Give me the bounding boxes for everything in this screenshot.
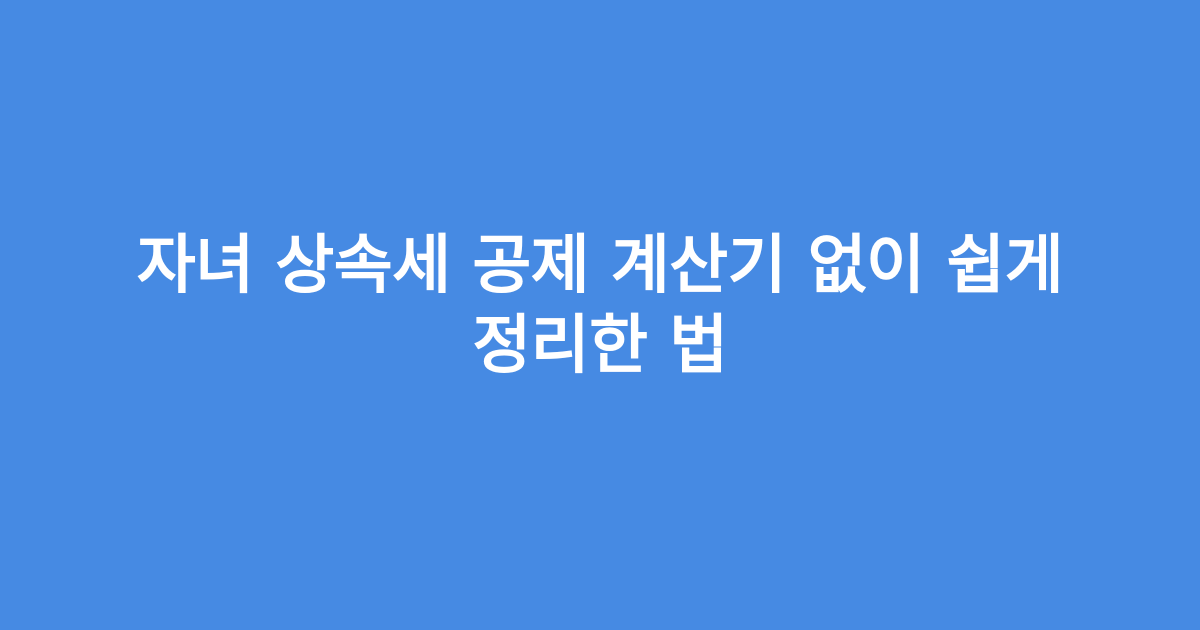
- og-image-card: 자녀 상속세 공제 계산기 없이 쉽게 정리한 법: [0, 0, 1200, 630]
- page-title: 자녀 상속세 공제 계산기 없이 쉽게 정리한 법: [116, 226, 1084, 386]
- title-block: 자녀 상속세 공제 계산기 없이 쉽게 정리한 법: [100, 226, 1100, 386]
